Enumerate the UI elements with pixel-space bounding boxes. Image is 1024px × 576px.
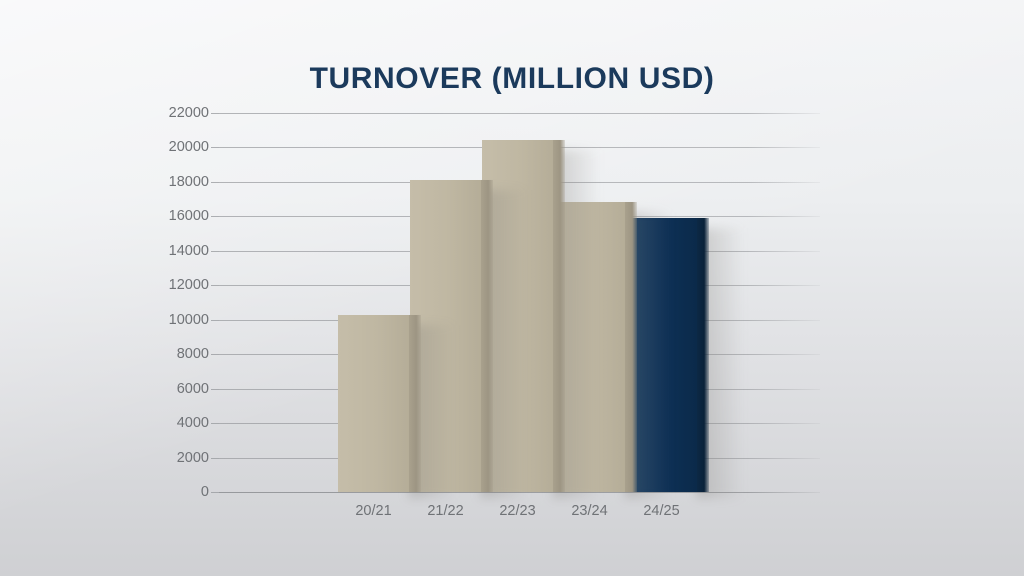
y-axis-tick-label: 14000	[139, 243, 209, 259]
y-axis-tick-mark	[211, 389, 219, 390]
gridline	[219, 492, 820, 493]
y-axis: 0200040006000800010000120001400016000180…	[139, 113, 209, 492]
y-axis-tick-mark	[211, 182, 219, 183]
y-axis-tick-label: 22000	[139, 105, 209, 121]
bar-side-face	[409, 315, 421, 492]
y-axis-tick-mark	[211, 423, 219, 424]
y-axis-tick-label: 6000	[139, 381, 209, 397]
bar-side-face	[553, 140, 565, 492]
bar-side-face	[481, 180, 493, 492]
x-axis-tick-label: 21/22	[410, 503, 481, 519]
x-axis-tick-label: 20/21	[338, 503, 409, 519]
bar-side-face	[625, 202, 637, 492]
slide-canvas: TURNOVER (MILLION USD) 02000400060008000…	[0, 0, 1024, 576]
chart-title: TURNOVER (MILLION USD)	[0, 62, 1024, 96]
x-axis: 20/2121/2222/2323/2424/25	[219, 503, 820, 527]
y-axis-tick-label: 8000	[139, 346, 209, 362]
x-axis-tick-label: 24/25	[626, 503, 697, 519]
y-axis-tick-mark	[211, 320, 219, 321]
y-axis-tick-mark	[211, 492, 219, 493]
bar-20-21[interactable]	[338, 315, 409, 492]
x-axis-tick-label: 22/23	[482, 503, 553, 519]
y-axis-tick-label: 0	[139, 484, 209, 500]
bar-body[interactable]	[338, 315, 409, 492]
y-axis-tick-label: 20000	[139, 139, 209, 155]
y-axis-tick-mark	[211, 251, 219, 252]
y-axis-tick-mark	[211, 285, 219, 286]
y-axis-tick-label: 12000	[139, 277, 209, 293]
y-axis-tick-label: 18000	[139, 174, 209, 190]
y-axis-tick-label: 10000	[139, 312, 209, 328]
y-axis-tick-label: 4000	[139, 415, 209, 431]
y-axis-tick-mark	[211, 216, 219, 217]
y-axis-tick-mark	[211, 354, 219, 355]
y-axis-tick-mark	[211, 458, 219, 459]
y-axis-tick-mark	[211, 113, 219, 114]
bar-side-face	[697, 218, 709, 492]
bar-series	[219, 113, 820, 492]
y-axis-tick-label: 16000	[139, 208, 209, 224]
y-axis-tick-label: 2000	[139, 450, 209, 466]
y-axis-tick-mark	[211, 147, 219, 148]
x-axis-tick-label: 23/24	[554, 503, 625, 519]
